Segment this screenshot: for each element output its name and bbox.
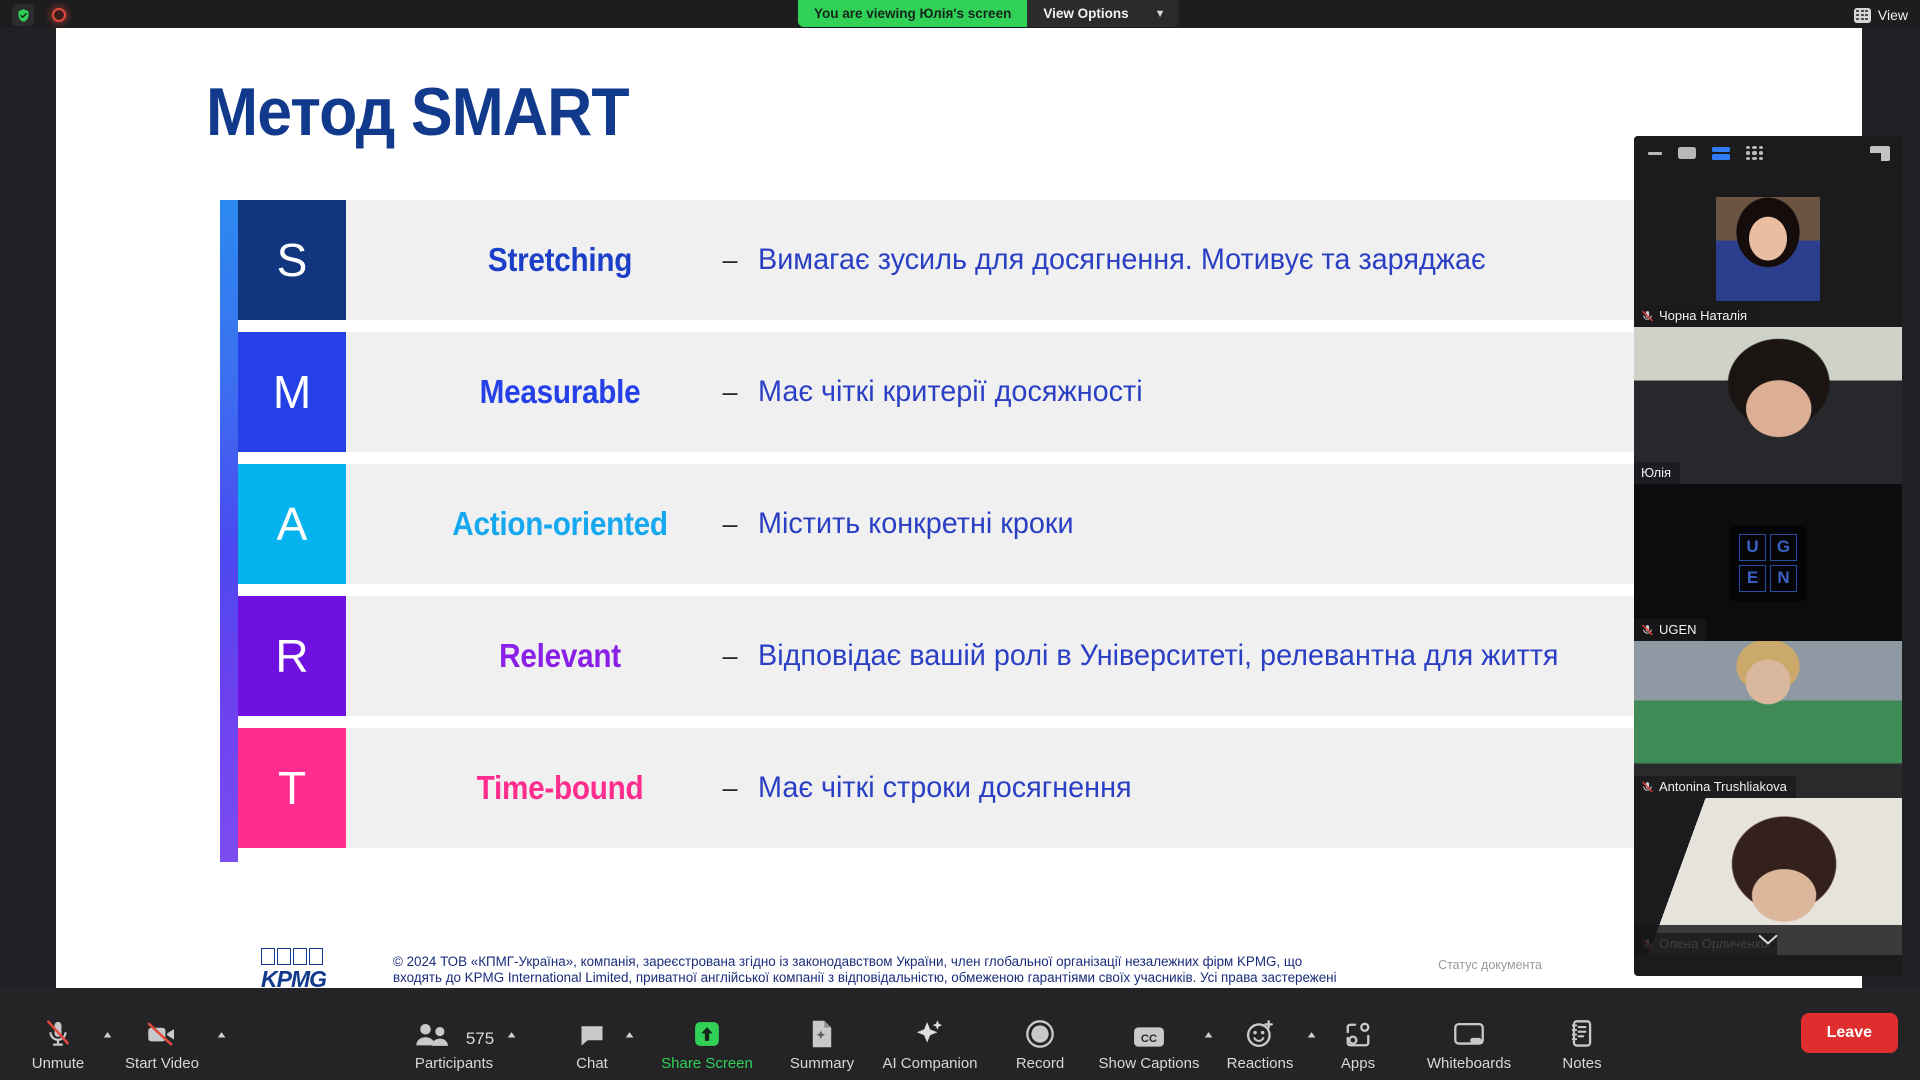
avatar bbox=[1634, 170, 1902, 327]
chat-icon bbox=[578, 1015, 606, 1049]
microphone-muted-icon bbox=[1641, 623, 1654, 637]
reactions-icon bbox=[1245, 1015, 1275, 1049]
apps-label: Apps bbox=[1341, 1055, 1375, 1072]
participant-name: UGEN bbox=[1659, 622, 1697, 637]
row-content: Stretching – Вимагає зусиль для досягнен… bbox=[346, 200, 1638, 320]
participant-name: Antonina Trushliakova bbox=[1659, 779, 1787, 794]
start-video-label: Start Video bbox=[125, 1055, 199, 1072]
ugen-logo-icon: U G E N bbox=[1730, 525, 1806, 601]
letter-badge: S bbox=[238, 200, 346, 320]
letter-badge: A bbox=[238, 464, 346, 584]
chevron-up-icon[interactable]: ▲ bbox=[505, 1029, 518, 1040]
letter-badge: T bbox=[238, 728, 346, 848]
gallery-view-icon[interactable] bbox=[1746, 146, 1763, 160]
row-dash: – bbox=[702, 773, 758, 804]
chevron-down-icon bbox=[1758, 934, 1778, 946]
notes-button[interactable]: Notes bbox=[1530, 1015, 1634, 1072]
row-content: Time-bound – Має чіткі строки досягнення bbox=[346, 728, 1638, 848]
participant-name-badge: UGEN bbox=[1634, 619, 1706, 641]
speaker-view-icon[interactable] bbox=[1712, 147, 1730, 160]
smart-rows: S Stretching – Вимагає зусиль для досягн… bbox=[238, 200, 1638, 860]
row-dash: – bbox=[702, 641, 758, 672]
chat-button[interactable]: Chat ▲ bbox=[540, 1015, 644, 1072]
row-english-term: Action-oriented bbox=[432, 505, 688, 543]
recording-dot-icon[interactable] bbox=[52, 8, 66, 22]
shared-screen-stage[interactable]: Метод SMART S Stretching – Вимагає зусил… bbox=[56, 28, 1862, 989]
closed-captions-icon: CC bbox=[1133, 1015, 1165, 1049]
whiteboards-label: Whiteboards bbox=[1427, 1055, 1511, 1072]
reactions-button[interactable]: Reactions ▲ bbox=[1208, 1015, 1312, 1072]
view-button-label: View bbox=[1878, 7, 1908, 23]
row-description: Має чіткі критерії досяжності bbox=[758, 375, 1143, 409]
participant-tile[interactable]: Олена Орличенко bbox=[1634, 798, 1902, 955]
participant-tile[interactable]: Чорна Наталія bbox=[1634, 170, 1902, 327]
page-title: Метод SMART bbox=[206, 73, 629, 151]
shield-check-icon[interactable] bbox=[12, 4, 34, 26]
participant-video-panel: Чорна Наталія Юлія U G E N bbox=[1634, 136, 1902, 976]
record-label: Record bbox=[1016, 1055, 1064, 1072]
copyright-text: © 2024 ТОВ «КПМГ-Україна», компанія, зар… bbox=[393, 954, 1348, 986]
apps-button[interactable]: Apps bbox=[1306, 1015, 1410, 1072]
participant-video bbox=[1634, 641, 1902, 798]
zoom-meeting-window: You are viewing Юлія's screen View Optio… bbox=[0, 0, 1920, 1080]
leave-button[interactable]: Leave bbox=[1801, 1013, 1898, 1053]
row-english-term: Measurable bbox=[432, 373, 688, 411]
participants-label: Participants bbox=[415, 1055, 493, 1072]
microphone-muted-icon bbox=[1641, 780, 1654, 794]
document-status-label: Статус документа bbox=[1438, 958, 1542, 972]
unmute-button[interactable]: Unmute ▲ bbox=[6, 1015, 110, 1072]
chevron-up-icon[interactable]: ▲ bbox=[215, 1029, 228, 1040]
row-english-term: Time-bound bbox=[432, 769, 688, 807]
presentation-slide: Метод SMART S Stretching – Вимагає зусил… bbox=[56, 28, 1862, 989]
whiteboard-icon bbox=[1453, 1015, 1485, 1049]
share-screen-label: Share Screen bbox=[661, 1055, 753, 1072]
minimize-icon[interactable] bbox=[1648, 152, 1662, 155]
camera-muted-icon bbox=[146, 1015, 178, 1049]
viewing-screen-label: You are viewing Юлія's screen bbox=[798, 0, 1027, 27]
participant-video bbox=[1634, 327, 1902, 484]
table-row: S Stretching – Вимагає зусиль для досягн… bbox=[238, 200, 1638, 320]
notes-label: Notes bbox=[1562, 1055, 1601, 1072]
ai-companion-icon bbox=[914, 1015, 946, 1049]
row-dash: – bbox=[702, 245, 758, 276]
reactions-label: Reactions bbox=[1227, 1055, 1294, 1072]
whiteboards-button[interactable]: Whiteboards bbox=[1417, 1015, 1521, 1072]
table-row: T Time-bound – Має чіткі строки досягнен… bbox=[238, 728, 1638, 848]
picture-in-picture-icon[interactable] bbox=[1870, 146, 1890, 161]
notes-icon bbox=[1569, 1015, 1595, 1049]
record-icon bbox=[1025, 1015, 1055, 1049]
show-captions-label: Show Captions bbox=[1099, 1055, 1200, 1072]
view-button[interactable]: View bbox=[1854, 4, 1908, 26]
summary-icon bbox=[809, 1015, 835, 1049]
row-description: Містить конкретні кроки bbox=[758, 507, 1074, 541]
ugen-letter: N bbox=[1770, 565, 1797, 592]
view-options-label: View Options bbox=[1043, 6, 1128, 21]
kpmg-logo: KPMG bbox=[261, 948, 329, 989]
ai-companion-button[interactable]: AI Companion bbox=[878, 1015, 982, 1072]
view-options-button[interactable]: View Options ▼ bbox=[1027, 0, 1179, 27]
viewing-screen-banner: You are viewing Юлія's screen View Optio… bbox=[798, 0, 1179, 27]
row-dash: – bbox=[702, 377, 758, 408]
row-content: Action-oriented – Містить конкретні крок… bbox=[346, 464, 1638, 584]
share-screen-icon bbox=[692, 1015, 722, 1049]
chat-label: Chat bbox=[576, 1055, 608, 1072]
share-screen-button[interactable]: Share Screen bbox=[655, 1015, 759, 1072]
single-speaker-view-icon[interactable] bbox=[1678, 147, 1696, 159]
gallery-view-icon bbox=[1854, 8, 1871, 23]
row-description: Відповідає вашій ролі в Університеті, ре… bbox=[758, 639, 1559, 673]
row-dash: – bbox=[702, 509, 758, 540]
summary-label: Summary bbox=[790, 1055, 854, 1072]
gradient-accent-bar bbox=[220, 200, 238, 862]
row-english-term: Relevant bbox=[432, 637, 688, 675]
row-english-term: Stretching bbox=[432, 241, 688, 279]
summary-button[interactable]: Summary bbox=[770, 1015, 874, 1072]
row-description: Вимагає зусиль для досягнення. Мотивує т… bbox=[758, 243, 1486, 277]
row-content: Relevant – Відповідає вашій ролі в Уніве… bbox=[346, 596, 1638, 716]
participant-tile[interactable]: U G E N UGEN bbox=[1634, 484, 1902, 641]
svg-text:CC: CC bbox=[1141, 1033, 1157, 1045]
participants-button[interactable]: 575 Participants ▲ bbox=[402, 1015, 506, 1072]
table-row: A Action-oriented – Містить конкретні кр… bbox=[238, 464, 1638, 584]
unmute-label: Unmute bbox=[32, 1055, 85, 1072]
participant-tile[interactable]: Antonina Trushliakova bbox=[1634, 641, 1902, 798]
scroll-down-button[interactable] bbox=[1634, 925, 1902, 955]
kpmg-logo-bars bbox=[261, 948, 329, 965]
table-row: R Relevant – Відповідає вашій ролі в Уні… bbox=[238, 596, 1638, 716]
meeting-controls-bar: Unmute ▲ Start Video ▲ bbox=[0, 988, 1920, 1080]
ugen-letter: U bbox=[1739, 534, 1766, 561]
chevron-down-icon: ▼ bbox=[1155, 8, 1166, 20]
microphone-muted-icon bbox=[1641, 309, 1654, 323]
letter-badge: R bbox=[238, 596, 346, 716]
row-description: Має чіткі строки досягнення bbox=[758, 771, 1132, 805]
kpmg-logo-wordmark: KPMG bbox=[261, 966, 329, 989]
participant-name: Юлія bbox=[1641, 465, 1671, 480]
avatar: U G E N bbox=[1634, 484, 1902, 641]
chevron-up-icon[interactable]: ▲ bbox=[623, 1029, 636, 1040]
ai-companion-label: AI Companion bbox=[882, 1055, 977, 1072]
participant-name-badge: Чорна Наталія bbox=[1634, 305, 1756, 327]
participant-name-badge: Юлія bbox=[1634, 462, 1680, 484]
apps-icon bbox=[1344, 1015, 1372, 1049]
table-row: M Measurable – Має чіткі критерії досяжн… bbox=[238, 332, 1638, 452]
top-bar: You are viewing Юлія's screen View Optio… bbox=[0, 0, 1920, 28]
participants-icon: 575 bbox=[414, 1015, 494, 1049]
show-captions-button[interactable]: CC Show Captions ▲ bbox=[1097, 1015, 1201, 1072]
record-button[interactable]: Record bbox=[988, 1015, 1092, 1072]
ugen-letter: G bbox=[1770, 534, 1797, 561]
ugen-letter: E bbox=[1739, 565, 1766, 592]
row-content: Measurable – Має чіткі критерії досяжнос… bbox=[346, 332, 1638, 452]
start-video-button[interactable]: Start Video ▲ bbox=[110, 1015, 214, 1072]
video-panel-toolbar bbox=[1634, 136, 1902, 170]
letter-badge: M bbox=[238, 332, 346, 452]
participant-name: Чорна Наталія bbox=[1659, 308, 1747, 323]
microphone-muted-icon bbox=[44, 1015, 72, 1049]
participant-name-badge: Antonina Trushliakova bbox=[1634, 776, 1796, 798]
participants-count: 575 bbox=[466, 1029, 494, 1049]
participant-tile[interactable]: Юлія bbox=[1634, 327, 1902, 484]
